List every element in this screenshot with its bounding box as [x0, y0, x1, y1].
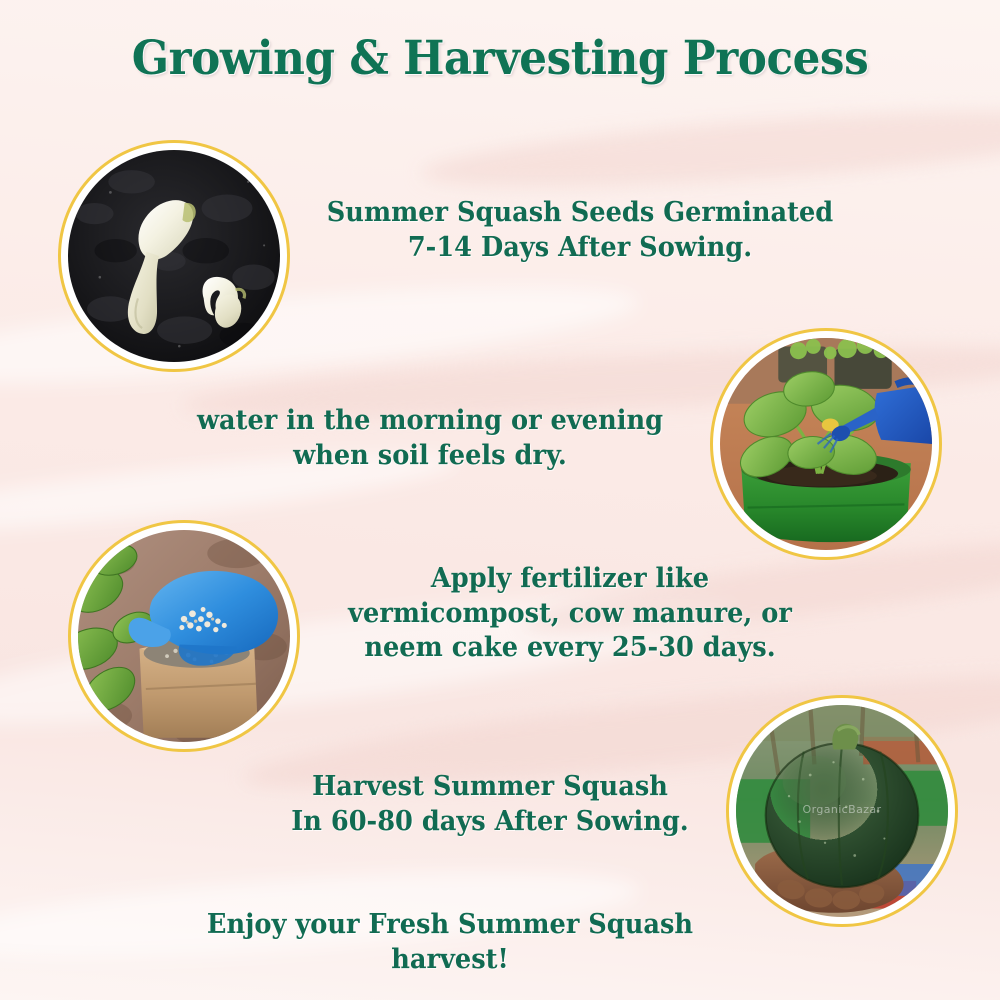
step-line: when soil feels dry. [164, 439, 696, 474]
germinating-seeds-photo [58, 140, 290, 372]
step-line: In 60-80 days After Sowing. [243, 805, 737, 840]
fertilizer-application-image [78, 530, 290, 742]
step-text-fertilizer: Apply fertilizer like vermicompost, cow … [304, 562, 836, 666]
harvested-squash-image: OrganicBazar [736, 705, 948, 917]
step-line: water in the morning or evening [164, 404, 696, 439]
page-title: Growing & Harvesting Process [35, 34, 965, 83]
step-text-harvest: Harvest Summer Squash In 60-80 days Afte… [243, 770, 737, 839]
infographic-canvas: Growing & Harvesting Process [0, 0, 1000, 1000]
watering-plant-photo [710, 328, 942, 560]
watering-plant-image [720, 338, 932, 550]
step-line: Harvest Summer Squash [243, 770, 737, 805]
step-line: Enjoy your Fresh Summer Squash [165, 908, 735, 943]
harvested-squash-photo: OrganicBazar [726, 695, 958, 927]
step-text-enjoy: Enjoy your Fresh Summer Squash harvest! [165, 908, 735, 977]
fertilizer-application-photo [68, 520, 300, 752]
step-line: vermicompost, cow manure, or [304, 597, 836, 632]
step-line: harvest! [165, 943, 735, 978]
step-line: Apply fertilizer like [304, 562, 836, 597]
step-text-watering: water in the morning or evening when soi… [164, 404, 696, 473]
germinating-seeds-image [68, 150, 280, 362]
step-line: neem cake every 25-30 days. [304, 631, 836, 666]
step-line: Summer Squash Seeds Germinated [314, 196, 846, 231]
step-text-germination: Summer Squash Seeds Germinated 7-14 Days… [314, 196, 846, 265]
step-line: 7-14 Days After Sowing. [314, 231, 846, 266]
